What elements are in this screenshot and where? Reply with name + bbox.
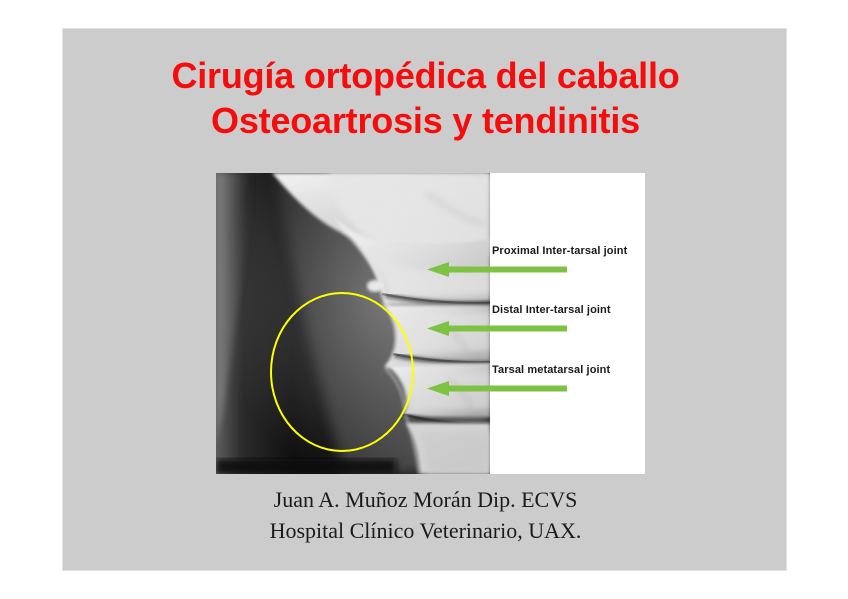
author-credit: Juan A. Muñoz Morán Dip. ECVS Hospital C… <box>63 484 788 546</box>
radiograph-figure: Proximal Inter-tarsal joint Distal Inter… <box>216 173 645 474</box>
author-name-line: Juan A. Muñoz Morán Dip. ECVS <box>63 484 788 515</box>
left-arrow-icon <box>427 381 567 396</box>
title-line-1: Cirugía ortopédica del caballo <box>63 53 788 98</box>
left-arrow-icon <box>427 262 567 277</box>
callout-label: Proximal Inter-tarsal joint <box>492 245 627 258</box>
slide-canvas: Cirugía ortopédica del caballo Osteoartr… <box>62 28 787 571</box>
author-affiliation-line: Hospital Clínico Veterinario, UAX. <box>63 515 788 546</box>
callout-label: Distal Inter-tarsal joint <box>492 304 611 317</box>
title-line-2: Osteoartrosis y tendinitis <box>63 98 788 143</box>
callout-label: Tarsal metatarsal joint <box>492 364 610 377</box>
callout-proximal-inter-tarsal-joint: Proximal Inter-tarsal joint <box>216 245 645 289</box>
callout-tarsal-metatarsal-joint: Tarsal metatarsal joint <box>216 364 645 408</box>
slide-title: Cirugía ortopédica del caballo Osteoartr… <box>63 53 788 143</box>
callout-distal-inter-tarsal-joint: Distal Inter-tarsal joint <box>216 304 645 348</box>
left-arrow-icon <box>427 321 567 336</box>
